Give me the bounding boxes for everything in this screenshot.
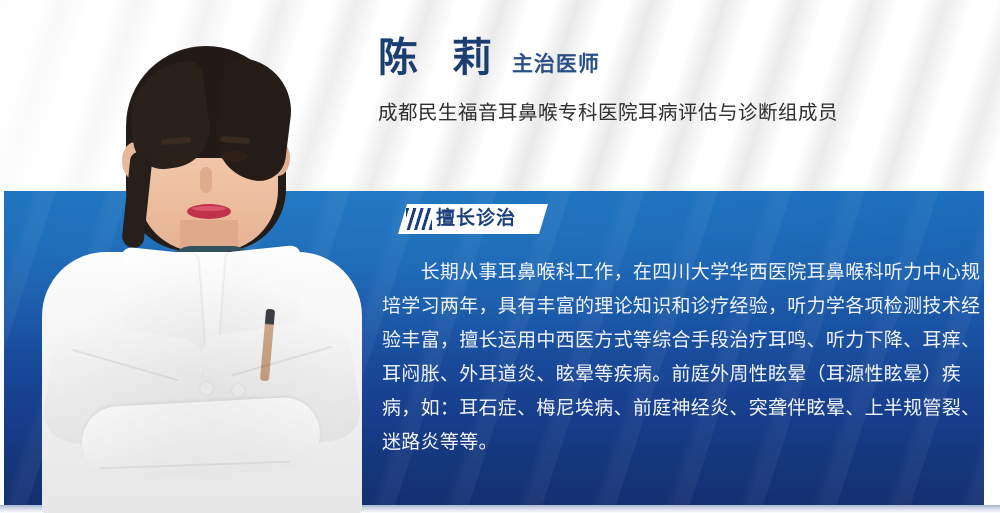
section-banner-title: 擅长诊治 [436,207,516,231]
double-slash-icon [406,208,432,230]
description-line: 病，如：耳石症、梅尼埃病、前庭神经炎、突聋伴眩晕、上半规管裂、 [382,392,982,426]
doctor-photo [30,34,375,513]
specialty-description: 长期从事耳鼻喉科工作，在四川大学华西医院耳鼻喉科听力中心规 培学习两年，具有丰富… [382,256,982,460]
eye-right-shape [221,151,248,162]
section-banner: 擅长诊治 [398,204,548,234]
description-line: 验丰富，擅长运用中西医方式等综合手段治疗耳鸣、听力下降、耳痒、 [382,324,982,358]
doctor-header-block: 陈 莉 主治医师 成都民生福音耳鼻喉专科医院耳病评估与诊断组成员 [378,38,978,125]
photo-soft-shadow [30,184,375,513]
doctor-name-line: 陈 莉 主治医师 [378,38,978,78]
doctor-profile-banner: 陈 莉 主治医师 成都民生福音耳鼻喉专科医院耳病评估与诊断组成员 擅长诊治 长期… [0,0,1000,513]
description-line: 迷路炎等等。 [382,426,982,460]
description-line: 耳闷胀、外耳道炎、眩晕等疾病。前庭外周性眩晕（耳源性眩晕）疾 [382,358,982,392]
description-line: 长期从事耳鼻喉科工作，在四川大学华西医院耳鼻喉科听力中心规 [382,256,982,290]
doctor-name: 陈 莉 [378,38,502,78]
description-line: 培学习两年，具有丰富的理论知识和诊疗经验，听力学各项检测技术经 [382,290,982,324]
doctor-title: 主治医师 [512,54,600,75]
doctor-affiliation: 成都民生福音耳鼻喉专科医院耳病评估与诊断组成员 [378,96,978,125]
eye-left-shape [163,152,190,163]
